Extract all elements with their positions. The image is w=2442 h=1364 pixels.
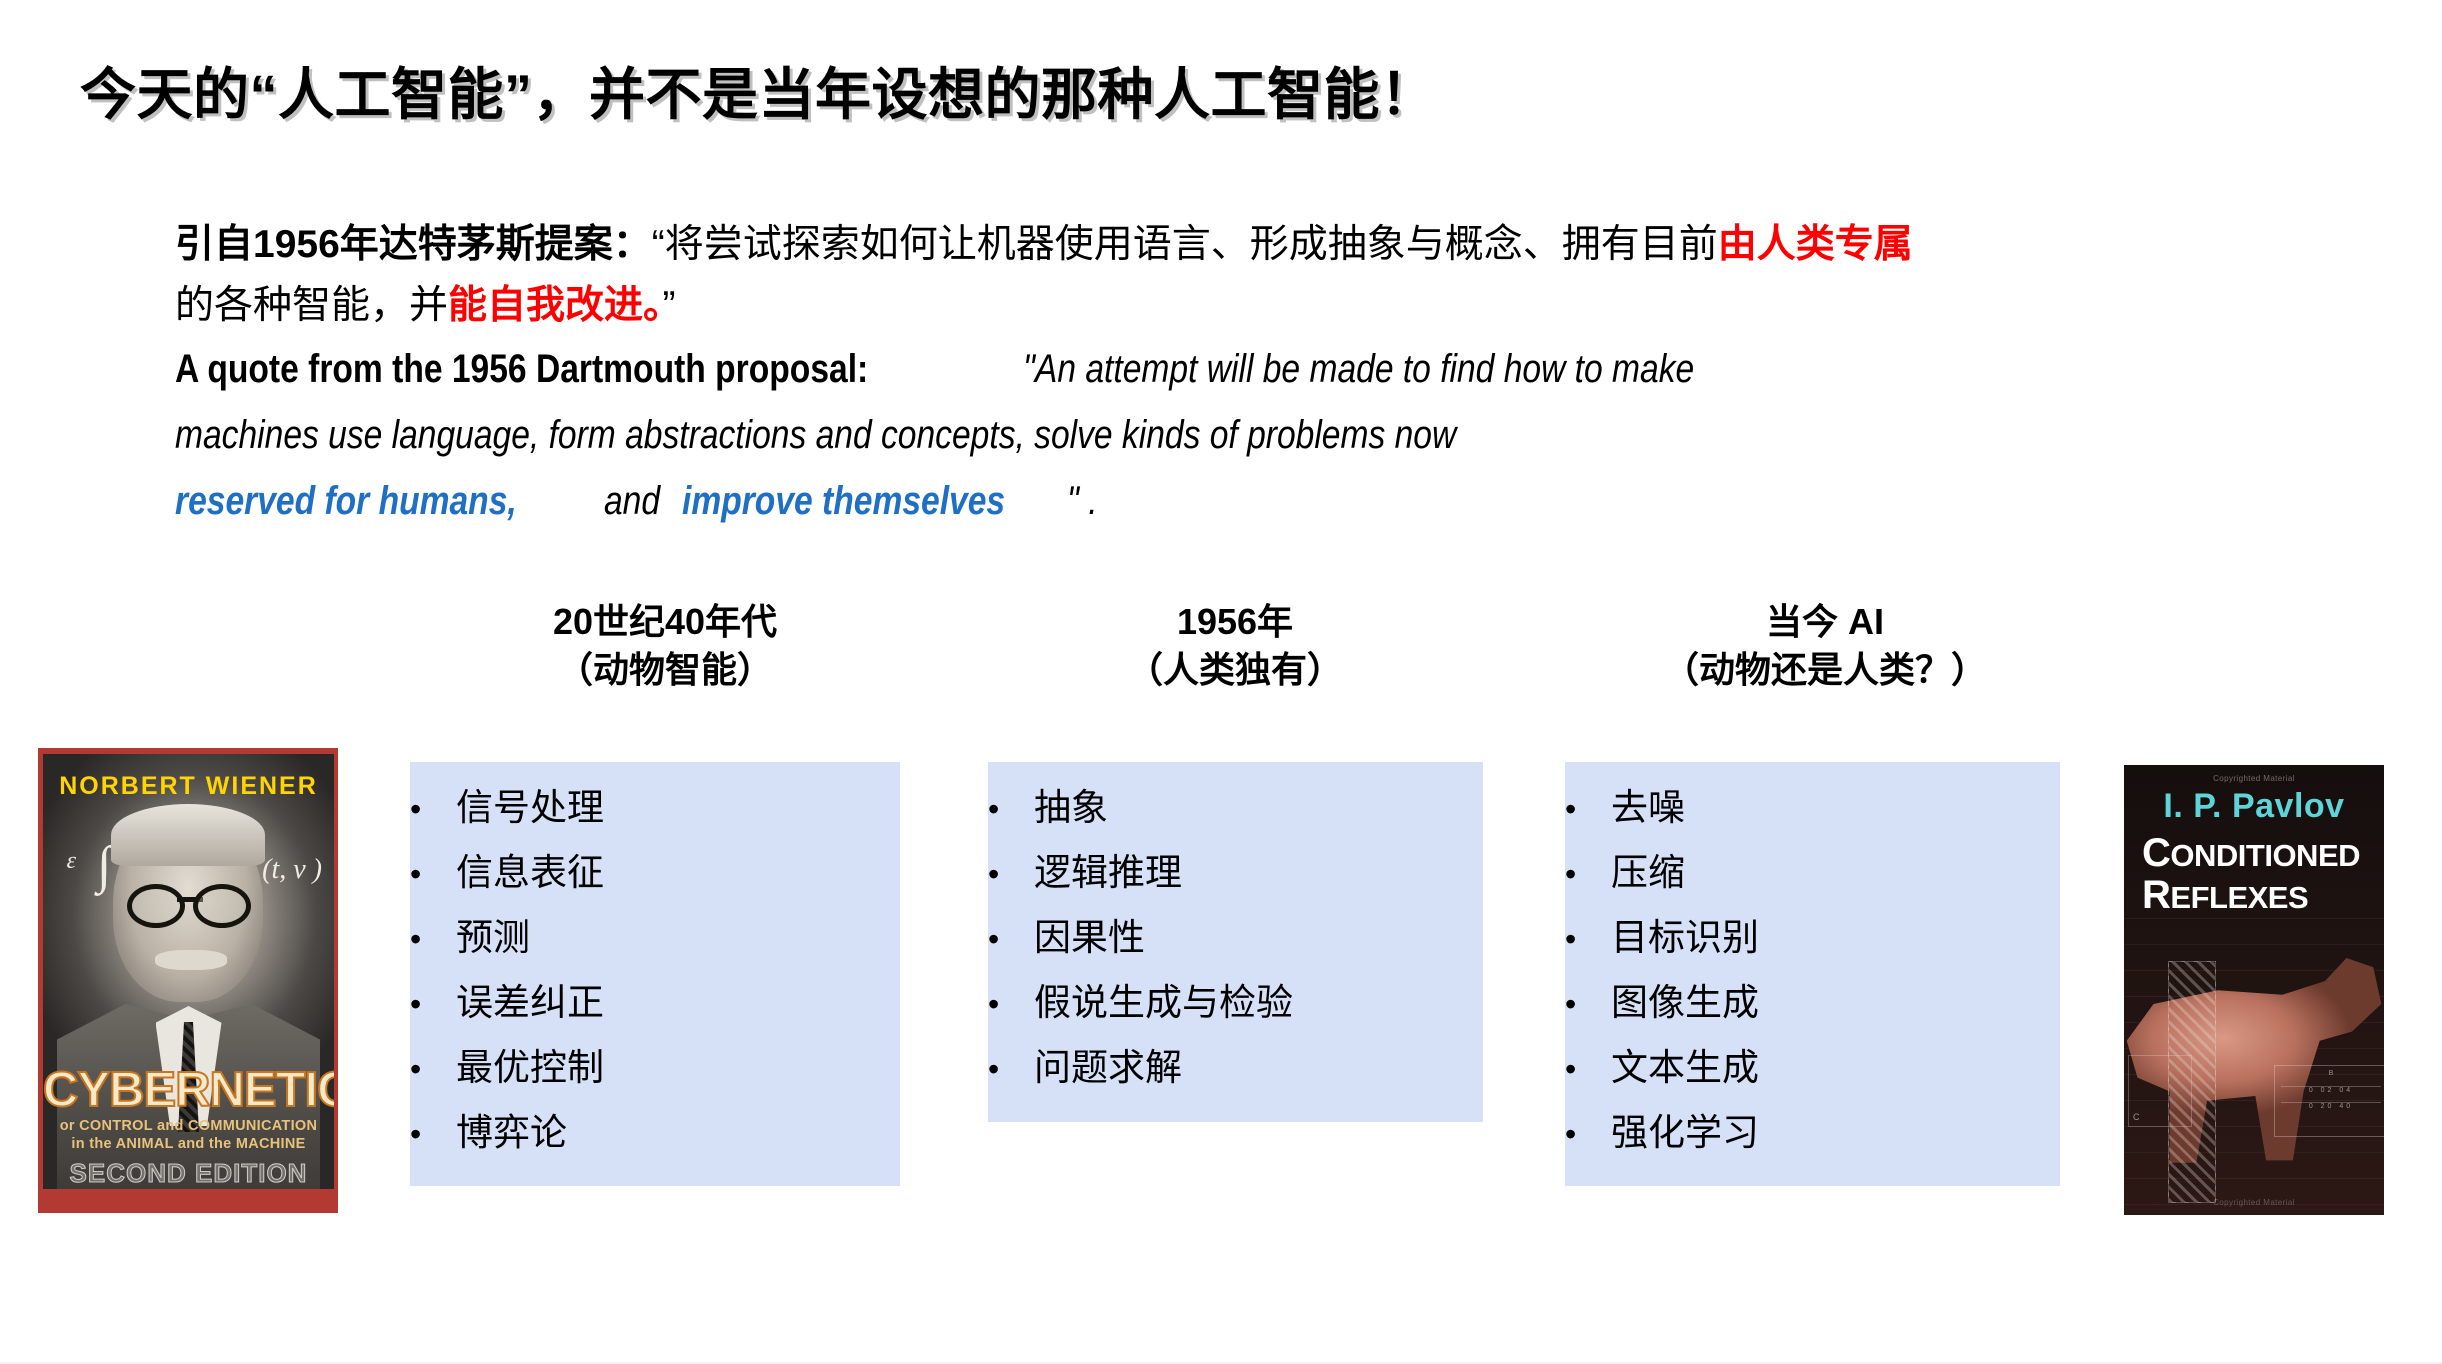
book-edition: SECOND EDITION — [43, 1158, 334, 1189]
bullet-icon: • — [988, 842, 1034, 906]
list-item-label: 信号处理 — [456, 776, 604, 840]
list-1: •信号处理 •信息表征 •预测 •误差纠正 •最优控制 •博弈论 — [410, 776, 900, 1166]
quote-cn-line-1: 引自1956年达特茅斯提案：“将尝试探索如何让机器使用语言、形成抽象与概念、拥有… — [175, 214, 2355, 275]
bullet-icon: • — [410, 1102, 456, 1166]
quote-cn-highlight-1: 由人类专属 — [1718, 223, 1913, 266]
quote-cn-text-1: “将尝试探索如何让机器使用语言、形成抽象与概念、拥有目前 — [652, 223, 1718, 266]
bullet-icon: • — [988, 907, 1034, 971]
list-item: •信号处理 — [410, 776, 900, 841]
quote-en-line-3: reserved for humans, and improve themsel… — [175, 468, 2355, 534]
list-item: •最优控制 — [410, 1036, 900, 1101]
bullet-icon: • — [1565, 842, 1611, 906]
column-heading-3-line1: 当今 AI — [1555, 598, 2095, 646]
quote-en-text-1: "An attempt will be made to find how to … — [1023, 336, 1694, 402]
book-cover-cybernetics: ᵋ ∫ (t, v ) NORBERT WIENER CYBERNETICS o… — [38, 748, 338, 1213]
column-heading-1-line2: （动物智能） — [400, 646, 930, 694]
bullet-icon: • — [988, 972, 1034, 1036]
book-subtitle-line2: in the ANIMAL and the MACHINE — [43, 1136, 334, 1152]
copyright-top: Copyrighted Material — [2124, 774, 2384, 783]
book-title-line2: REFLEXES — [2142, 873, 2308, 918]
list-item-label: 因果性 — [1034, 906, 1145, 970]
list-item: •目标识别 — [1565, 906, 2060, 971]
list-item: •文本生成 — [1565, 1036, 2060, 1101]
bullet-icon: • — [410, 842, 456, 906]
list-item-label: 博弈论 — [456, 1101, 567, 1165]
equation-glyph-1: ᵋ — [65, 842, 74, 889]
quote-en-line-2: machines use language, form abstractions… — [175, 402, 2355, 468]
column-heading-2-line1: 1956年 — [985, 598, 1485, 646]
column-heading-1: 20世纪40年代 （动物智能） — [400, 598, 930, 694]
title-rest-1: ONDITIONED — [2170, 838, 2360, 873]
list-item: •预测 — [410, 906, 900, 971]
list-item: •抽象 — [988, 776, 1483, 841]
list-2: •抽象 •逻辑推理 •因果性 •假说生成与检验 •问题求解 — [988, 776, 1483, 1101]
diagram-label-c: C — [2133, 1112, 2140, 1122]
column-heading-1-line1: 20世纪40年代 — [400, 598, 930, 646]
list-item-label: 最优控制 — [456, 1036, 604, 1100]
column-heading-2: 1956年 （人类独有） — [985, 598, 1485, 694]
list-item-label: 信息表征 — [456, 841, 604, 905]
quote-en-line-1: A quote from the 1956 Dartmouth proposal… — [175, 336, 2355, 402]
title-rest-2: EFLEXES — [2170, 880, 2308, 915]
quote-cn-tail: ” — [663, 284, 676, 327]
quote-en-blue-2: improve themselves — [682, 468, 1005, 534]
bullet-icon: • — [1565, 907, 1611, 971]
book-title-line1: CONDITIONED — [2142, 831, 2360, 876]
list-box-1: •信号处理 •信息表征 •预测 •误差纠正 •最优控制 •博弈论 — [410, 762, 900, 1186]
portrait-moustache — [155, 950, 227, 970]
bullet-icon: • — [1565, 1037, 1611, 1101]
cover-bottom-band — [43, 1189, 334, 1201]
book-author-name: NORBERT WIENER — [43, 772, 334, 801]
quote-en-label: A quote from the 1956 Dartmouth proposal… — [175, 336, 868, 402]
title-cap-1: C — [2142, 831, 2170, 875]
column-heading-2-line2: （人类独有） — [985, 646, 1485, 694]
column-heading-3: 当今 AI （动物还是人类？） — [1555, 598, 2095, 694]
list-item: •去噪 — [1565, 776, 2060, 841]
diagram-label-b: B — [2275, 1070, 2384, 1077]
bullet-icon: • — [1565, 972, 1611, 1036]
quote-cn-highlight-2: 能自我改进。 — [448, 284, 663, 327]
list-item: •压缩 — [1565, 841, 2060, 906]
bullet-icon: • — [410, 972, 456, 1036]
glasses-icon — [127, 884, 251, 918]
diagram-scale: B 0 02 04 0 20 40 — [2274, 1065, 2384, 1137]
equation-glyph-2: ∫ — [97, 836, 111, 895]
quote-block: 引自1956年达特茅斯提案：“将尝试探索如何让机器使用语言、形成抽象与概念、拥有… — [175, 214, 2355, 534]
quote-cn-line-2: 的各种智能，并能自我改进。” — [175, 275, 2355, 336]
list-box-2: •抽象 •逻辑推理 •因果性 •假说生成与检验 •问题求解 — [988, 762, 1483, 1122]
bullet-icon: • — [410, 1037, 456, 1101]
bullet-icon: • — [988, 777, 1034, 841]
quote-en-text-2: machines use language, form abstractions… — [175, 402, 1456, 468]
list-item-label: 文本生成 — [1611, 1036, 1759, 1100]
title-cap-2: R — [2142, 873, 2170, 917]
list-item-label: 压缩 — [1611, 841, 1685, 905]
list-item: •图像生成 — [1565, 971, 2060, 1036]
list-item-label: 逻辑推理 — [1034, 841, 1182, 905]
list-item: •逻辑推理 — [988, 841, 1483, 906]
diagram-scale-row-2: 0 20 40 — [2281, 1102, 2381, 1110]
list-item: •假说生成与检验 — [988, 971, 1483, 1036]
diagram-box-c: C — [2128, 1055, 2192, 1127]
list-item-label: 误差纠正 — [456, 971, 604, 1035]
list-item-label: 去噪 — [1611, 776, 1685, 840]
book-title: CYBERNETICS — [43, 1062, 334, 1118]
portrait-hair — [111, 804, 265, 866]
list-item-label: 强化学习 — [1611, 1101, 1759, 1165]
slide-canvas: 今天的“人工智能”，并不是当年设想的那种人工智能！ 引自1956年达特茅斯提案：… — [0, 0, 2442, 1364]
quote-en-blue-1: reserved for humans, — [175, 468, 517, 534]
list-item: •强化学习 — [1565, 1101, 2060, 1166]
bullet-icon: • — [410, 777, 456, 841]
list-item-label: 抽象 — [1034, 776, 1108, 840]
diagram-scale-row-1: 0 02 04 — [2281, 1086, 2381, 1094]
list-item-label: 问题求解 — [1034, 1036, 1182, 1100]
equation-glyph-3: (t, v ) — [262, 854, 322, 886]
book-subtitle-line1: or CONTROL and COMMUNICATION — [43, 1118, 334, 1134]
list-item: •博弈论 — [410, 1101, 900, 1166]
copyright-bottom: Copyrighted Material — [2124, 1198, 2384, 1207]
bullet-icon: • — [1565, 777, 1611, 841]
list-item-label: 图像生成 — [1611, 971, 1759, 1035]
quote-en-mid: and — [604, 468, 660, 534]
bullet-icon: • — [988, 1037, 1034, 1101]
column-heading-3-line2: （动物还是人类？） — [1555, 646, 2095, 694]
list-item-label: 预测 — [456, 906, 530, 970]
book-cover-pavlov: C B 0 02 04 0 20 40 Copyrighted Material… — [2124, 765, 2384, 1215]
list-3: •去噪 •压缩 •目标识别 •图像生成 •文本生成 •强化学习 — [1565, 776, 2060, 1166]
quote-cn-text-2: 的各种智能，并 — [175, 284, 448, 327]
cybernetics-artwork: ᵋ ∫ (t, v ) NORBERT WIENER CYBERNETICS o… — [43, 754, 334, 1201]
page-title: 今天的“人工智能”，并不是当年设想的那种人工智能！ — [80, 50, 1437, 131]
quote-cn-label: 引自1956年达特茅斯提案： — [175, 223, 652, 266]
list-box-3: •去噪 •压缩 •目标识别 •图像生成 •文本生成 •强化学习 — [1565, 762, 2060, 1186]
quote-en-tail: " . — [1067, 468, 1098, 534]
list-item: •信息表征 — [410, 841, 900, 906]
list-item-label: 目标识别 — [1611, 906, 1759, 970]
book-author-name: I. P. Pavlov — [2124, 787, 2384, 826]
list-item-label: 假说生成与检验 — [1034, 971, 1293, 1035]
list-item: •误差纠正 — [410, 971, 900, 1036]
bullet-icon: • — [410, 907, 456, 971]
list-item: •问题求解 — [988, 1036, 1483, 1101]
bullet-icon: • — [1565, 1102, 1611, 1166]
list-item: •因果性 — [988, 906, 1483, 971]
